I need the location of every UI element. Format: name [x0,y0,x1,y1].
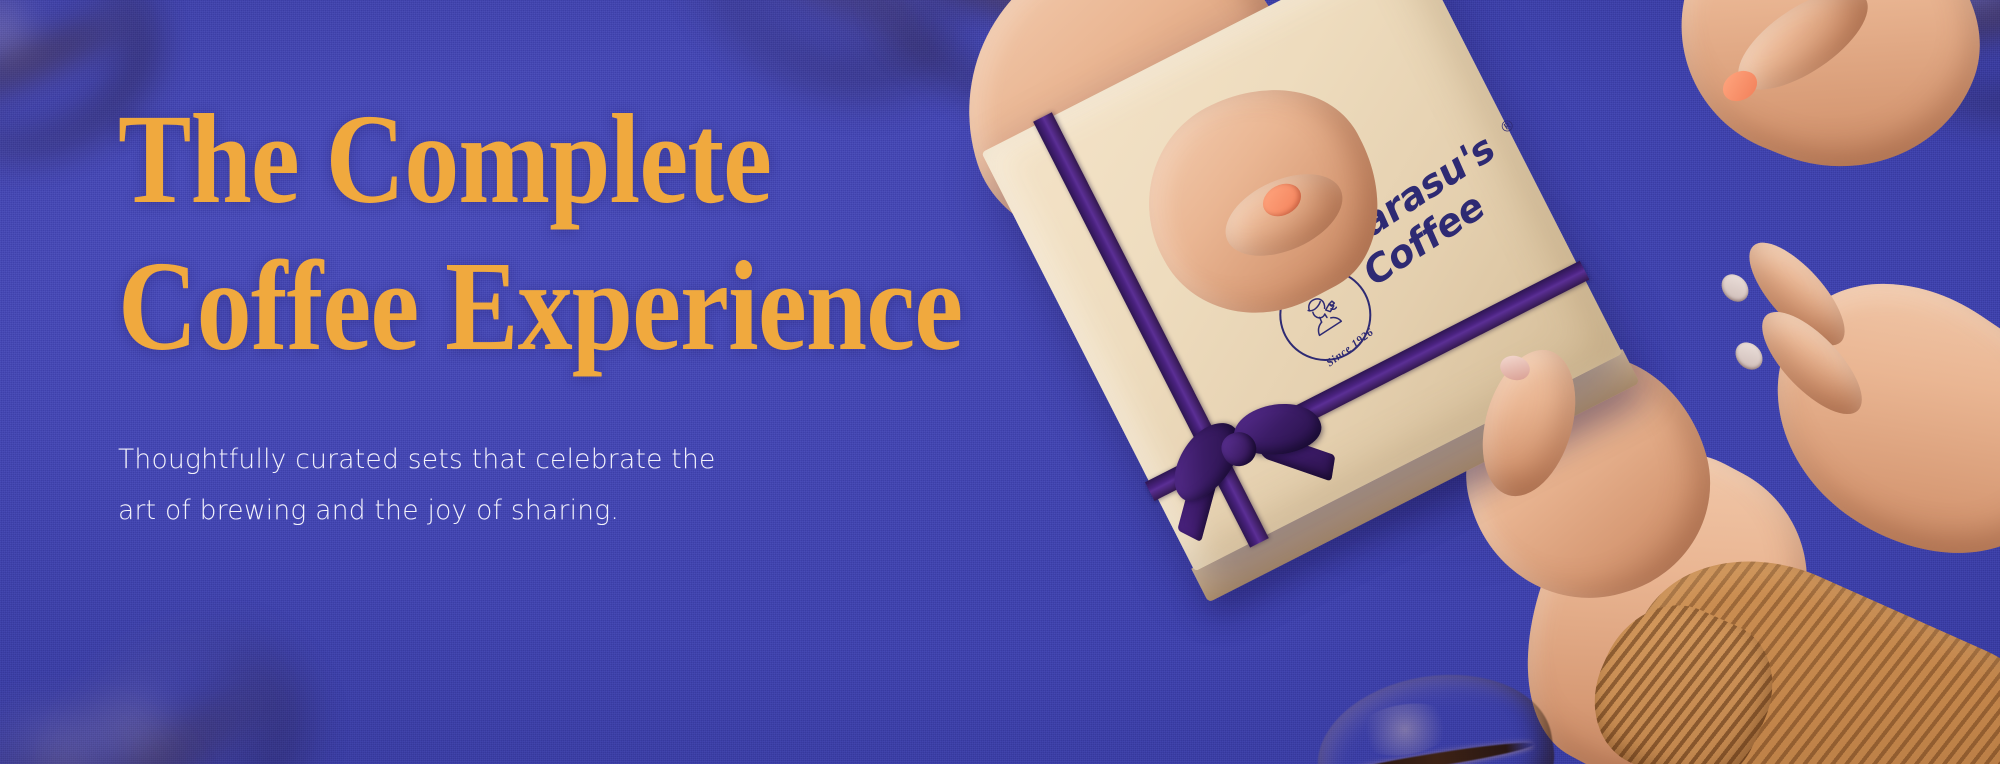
subheading-line-1: Thoughtfully curated sets that celebrate… [118,435,758,486]
hero-copy-block: The Complete Coffee Experience Thoughtfu… [118,96,1078,537]
subheading-line-2: art of brewing and the joy of sharing. [118,486,758,537]
hero-banner: The Complete Coffee Experience Thoughtfu… [0,0,2000,764]
headline-line-1: The Complete [118,96,944,223]
hero-subheading: Thoughtfully curated sets that celebrate… [118,435,758,537]
page-title: The Complete Coffee Experience [118,96,944,369]
headline-line-2: Coffee Experience [118,243,944,370]
